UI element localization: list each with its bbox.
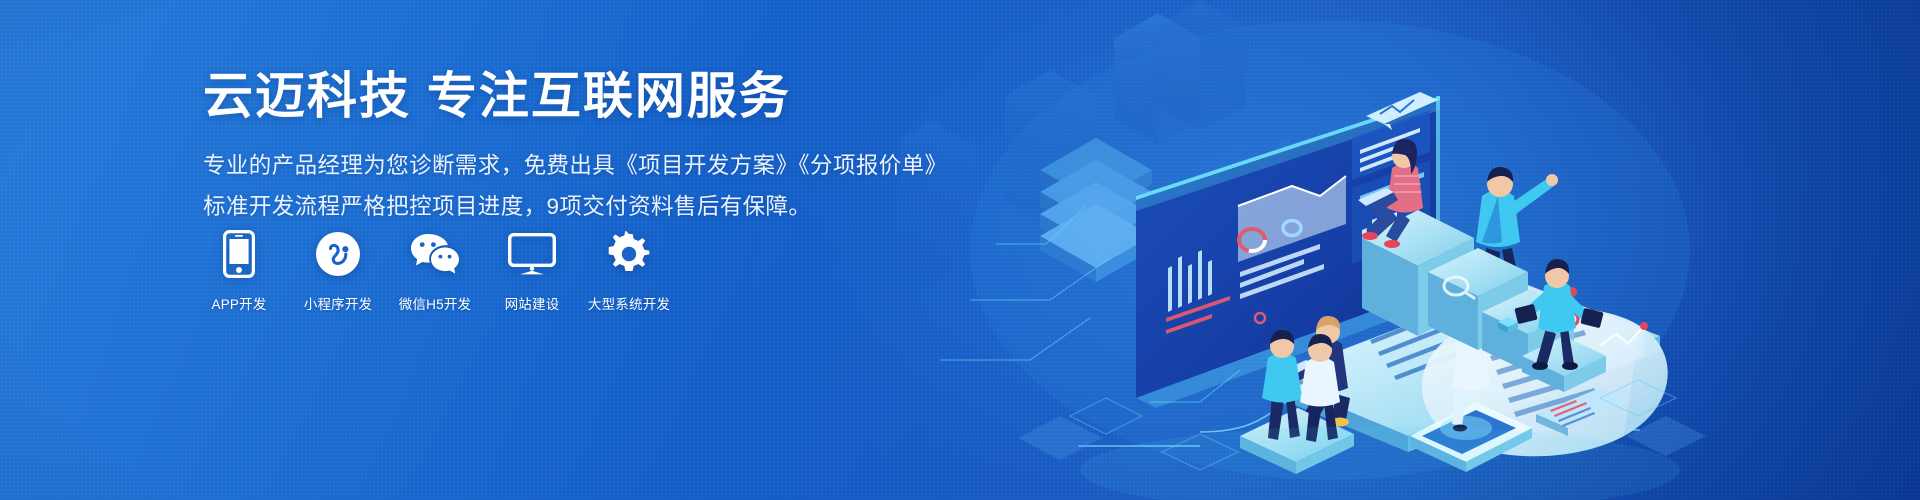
service-item-app[interactable]: APP开发 — [203, 228, 275, 313]
service-label: 微信H5开发 — [399, 293, 471, 313]
isometric-illustration — [900, 0, 1920, 500]
gear-icon — [603, 228, 655, 280]
service-list: APP开发 小程序开发 — [203, 228, 665, 313]
subtitle-line-1: 专业的产品经理为您诊断需求，免费出具《项目开发方案》《分项报价单》 — [203, 146, 963, 185]
service-label: APP开发 — [211, 293, 266, 313]
service-item-wechat[interactable]: 微信H5开发 — [399, 228, 471, 313]
service-item-system[interactable]: 大型系统开发 — [593, 228, 665, 313]
page-title: 云迈科技 专注互联网服务 — [203, 68, 963, 124]
mini-program-icon — [312, 228, 364, 280]
service-item-website[interactable]: 网站建设 — [496, 228, 568, 313]
hero-banner: 云迈科技 专注互联网服务 专业的产品经理为您诊断需求，免费出具《项目开发方案》《… — [0, 0, 1920, 500]
banner-subtitle: 专业的产品经理为您诊断需求，免费出具《项目开发方案》《分项报价单》 标准开发流程… — [203, 146, 963, 226]
mobile-phone-icon — [213, 228, 265, 280]
banner-copy: 云迈科技 专注互联网服务 专业的产品经理为您诊断需求，免费出具《项目开发方案》《… — [203, 68, 963, 226]
service-label: 小程序开发 — [304, 293, 373, 313]
service-item-miniprogram[interactable]: 小程序开发 — [302, 228, 374, 313]
service-label: 大型系统开发 — [588, 293, 670, 313]
wechat-icon — [409, 228, 461, 280]
service-label: 网站建设 — [505, 293, 560, 313]
subtitle-line-2: 标准开发流程严格把控项目进度，9项交付资料售后有保障。 — [203, 187, 963, 226]
monitor-icon — [506, 228, 558, 280]
